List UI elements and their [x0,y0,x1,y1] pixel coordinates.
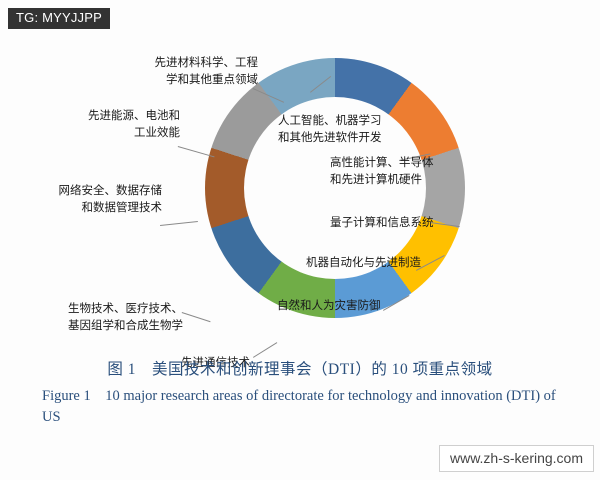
segment-label-automation: 机器自动化与先进制造 [306,255,466,272]
caption-english: Figure 1 10 major research areas of dire… [0,382,600,428]
figure-caption: 图 1 美国技术和创新理事会（DTI）的 10 项重点领域 Figure 1 1… [0,358,600,428]
donut-chart: 人工智能、机器学习 和其他先进软件开发 高性能计算、半导体 和先进计算机硬件 量… [0,20,600,360]
leader-line-cyber [160,221,198,226]
leader-line-comms [253,342,277,358]
watermark-site: www.zh-s-kering.com [439,445,594,472]
figure-page: TG: MYYJJPP 人工智能、机器学习 和其他先进软件开发 高性能计算、半导… [0,0,600,480]
segment-label-quantum: 量子计算和信息系统 [330,215,490,232]
segment-label-disaster: 自然和人为灾害防御 [277,298,437,315]
segment-label-energy: 先进能源、电池和 工业效能 [72,108,180,142]
segment-label-biotech: 生物技术、医疗技术、 基因组学和合成生物学 [55,301,183,335]
caption-chinese: 图 1 美国技术和创新理事会（DTI）的 10 项重点领域 [0,358,600,382]
segment-label-ai: 人工智能、机器学习 和其他先进软件开发 [278,113,428,147]
segment-label-hpc: 高性能计算、半导体 和先进计算机硬件 [330,155,480,189]
segment-label-materials: 先进材料科学、工程 学和其他重点领域 [140,55,258,89]
segment-label-cyber: 网络安全、数据存储 和数据管理技术 [52,183,162,217]
